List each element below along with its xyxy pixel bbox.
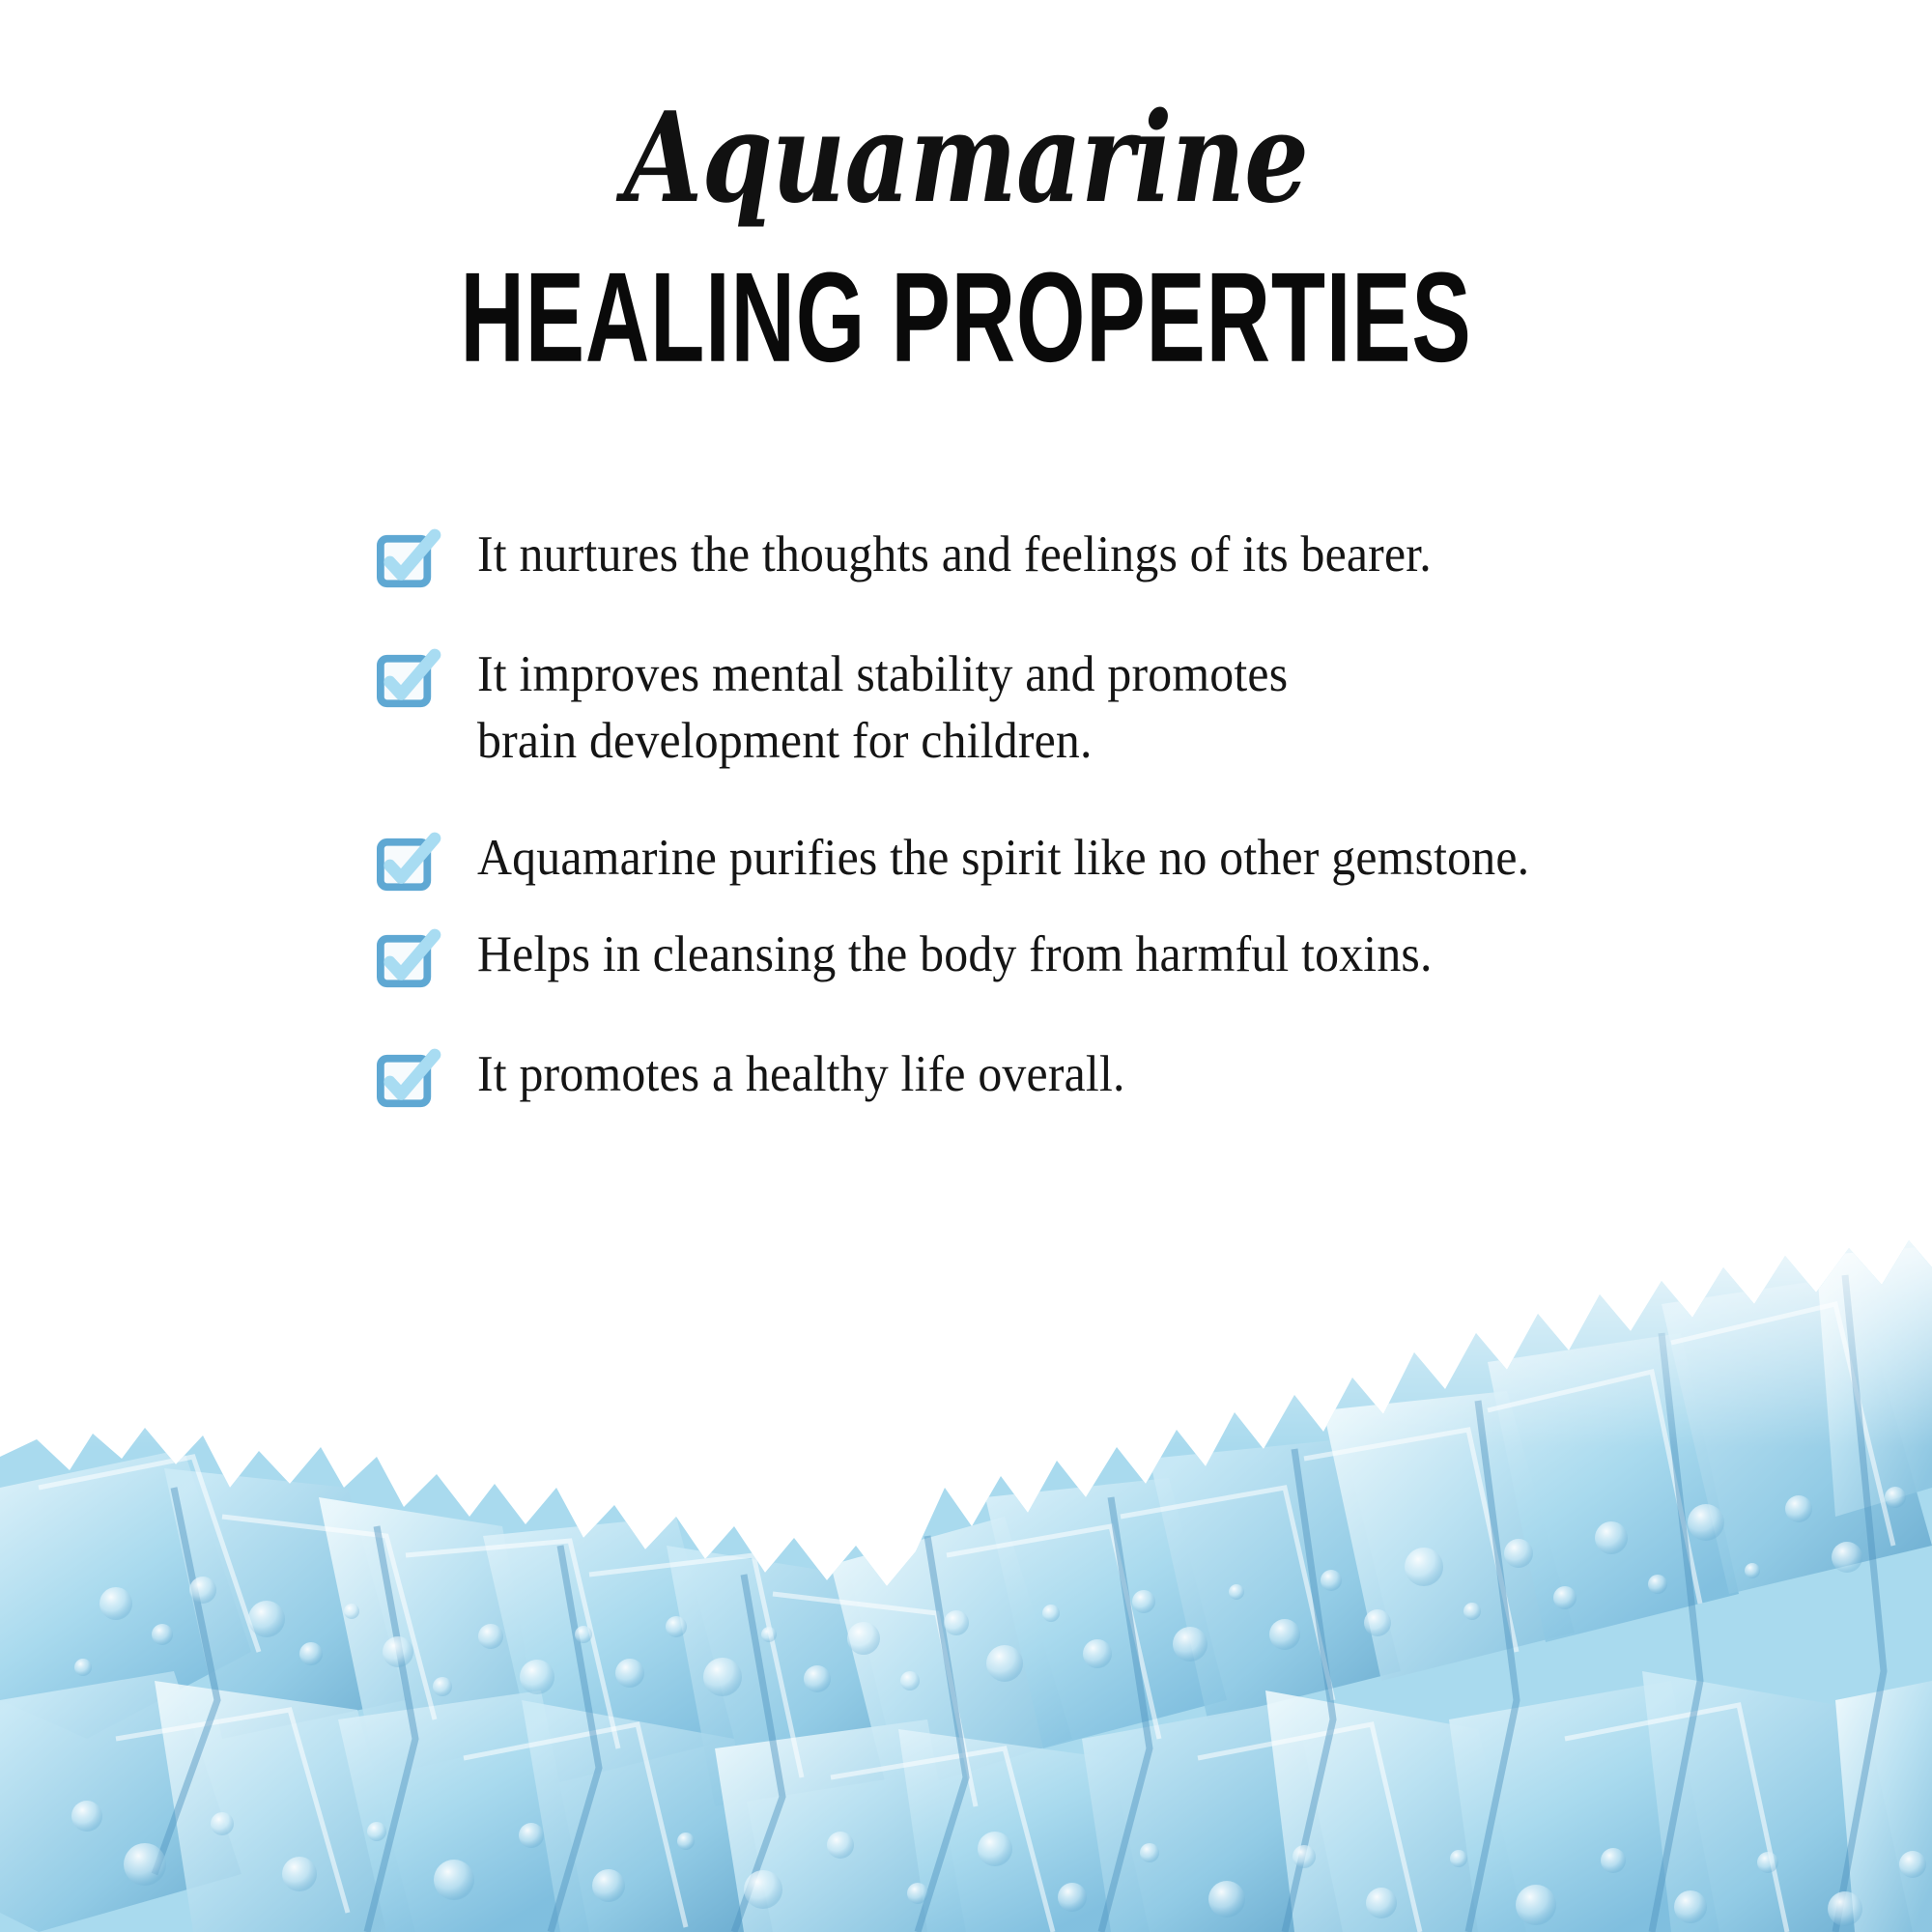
list-item: It improves mental stability and promote… <box>377 641 1826 775</box>
list-item-label: It promotes a healthy life overall. <box>477 1041 1125 1108</box>
checked-checkbox-icon[interactable] <box>377 931 437 991</box>
poster-canvas: Aquamarine HEALING PROPERTIES It nurture… <box>0 0 1932 1932</box>
list-item: Helps in cleansing the body from harmful… <box>377 922 1826 991</box>
list-item-label: It nurtures the thoughts and feelings of… <box>477 522 1432 588</box>
checked-checkbox-icon[interactable] <box>377 651 437 711</box>
list-item-label: Helps in cleansing the body from harmful… <box>477 922 1433 988</box>
checked-checkbox-icon[interactable] <box>377 835 437 895</box>
checked-checkbox-icon[interactable] <box>377 1051 437 1111</box>
healing-properties-list: It nurtures the thoughts and feelings of… <box>377 522 1826 1161</box>
checked-checkbox-icon[interactable] <box>377 531 437 591</box>
list-item-label: Aquamarine purifies the spirit like no o… <box>477 825 1529 892</box>
list-item: Aquamarine purifies the spirit like no o… <box>377 825 1826 895</box>
ice-cubes-photo <box>0 1198 1932 1932</box>
page-title-heading: HEALING PROPERTIES <box>213 254 1719 382</box>
page-title-script: Aquamarine <box>174 97 1758 220</box>
list-item: It promotes a healthy life overall. <box>377 1041 1826 1111</box>
list-item-label: It improves mental stability and promote… <box>477 641 1288 775</box>
header: Aquamarine HEALING PROPERTIES <box>0 0 1932 375</box>
list-item: It nurtures the thoughts and feelings of… <box>377 522 1826 591</box>
